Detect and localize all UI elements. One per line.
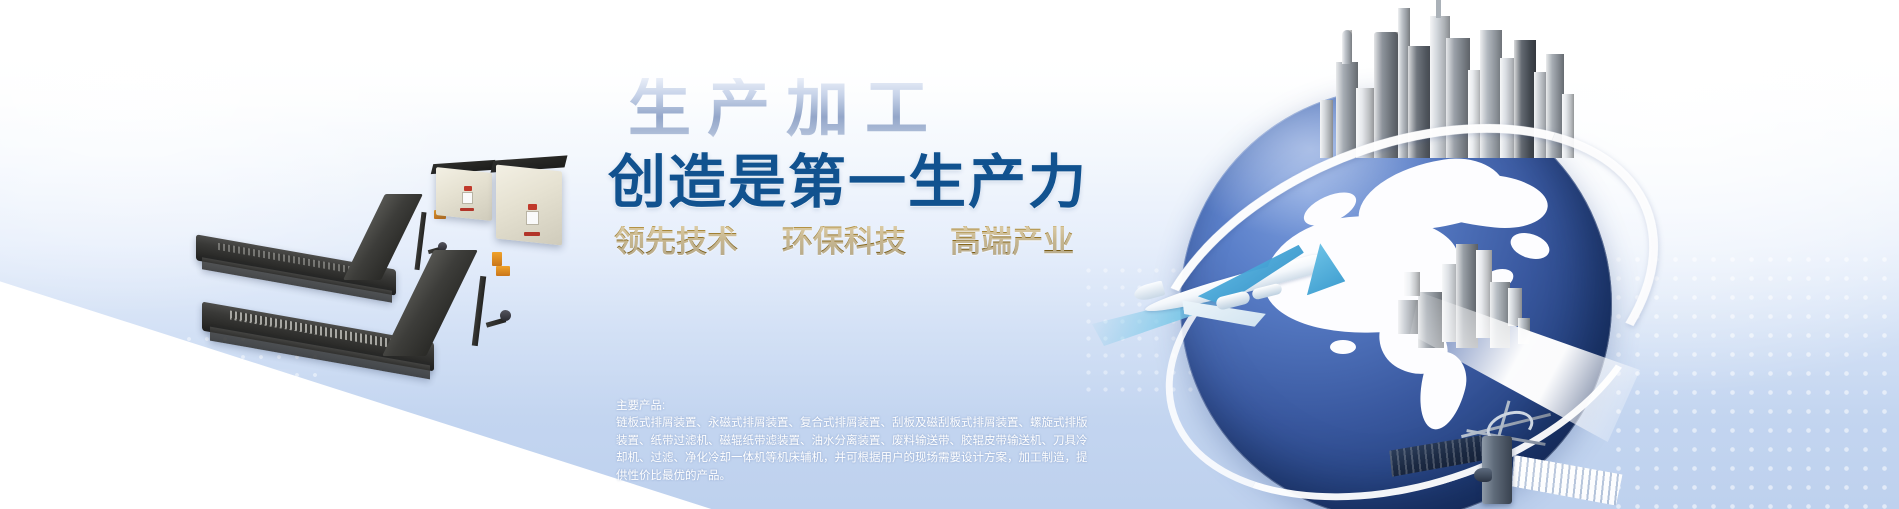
conveyor-support-leg [472,276,486,346]
building [1336,62,1358,158]
motor-label [524,232,540,236]
motor-label-red [464,186,472,191]
promo-banner: 生产加工 创造是第一生产力 领先技术 环保科技 高端产业 主要产品: 链板式排屑… [0,0,1899,509]
building-spire [1342,30,1352,64]
conveyor-roller [500,310,511,321]
satellite-solar-panel-left [1389,435,1486,477]
motor-label-red [528,204,537,210]
product-list-line: 供性价比最优的产品。 [616,468,1226,485]
page-title-top: 生产加工 [608,78,1168,141]
page-headline: 创造是第一生产力 [608,153,1168,214]
satellite-solar-panel-right [1511,452,1624,506]
conveyor-incline [343,194,423,280]
tagline-item-2: 环保科技 [782,226,906,257]
product-description-block: 主要产品: 链板式排屑装置、永磁式排屑装置、复合式排屑装置、刮板及磁刮板式排屑装… [616,398,1226,485]
conveyor-incline [382,250,478,356]
conveyor-support-leg [414,212,426,270]
satellite-lens [1474,468,1492,482]
conveyor-indicator [492,252,502,266]
building-antenna [1436,0,1441,18]
motor-warning-sticker [462,192,473,204]
building [1320,100,1333,158]
tagline-row: 领先技术 环保科技 高端产业 [608,226,1168,257]
conveyor-indicator [496,266,510,276]
background-white-wedge-fade [0,369,300,509]
product-list-line: 链板式排屑装置、永磁式排屑装置、复合式排屑装置、刮板及磁刮板式排屑装置、螺旋式排… [616,415,1226,432]
motor-warning-sticker [526,211,539,225]
motor-label [460,208,474,211]
product-list-line: 装置、纸带过滤机、磁辊纸带滤装置、油水分离装置、废料输送带、胶辊皮带输送机、刀具… [616,433,1226,450]
product-list-line: 却机、过滤、净化冷却一体机等机床辅机，并可根据用户的现场需要设计方案，加工制造，… [616,450,1226,467]
headline-block: 生产加工 创造是第一生产力 领先技术 环保科技 高端产业 [608,78,1168,257]
satellite-illustration [1374,390,1634,509]
tagline-item-3: 高端产业 [950,226,1074,257]
product-list-label: 主要产品: [616,398,1226,415]
tagline-item-1: 领先技术 [614,226,738,257]
